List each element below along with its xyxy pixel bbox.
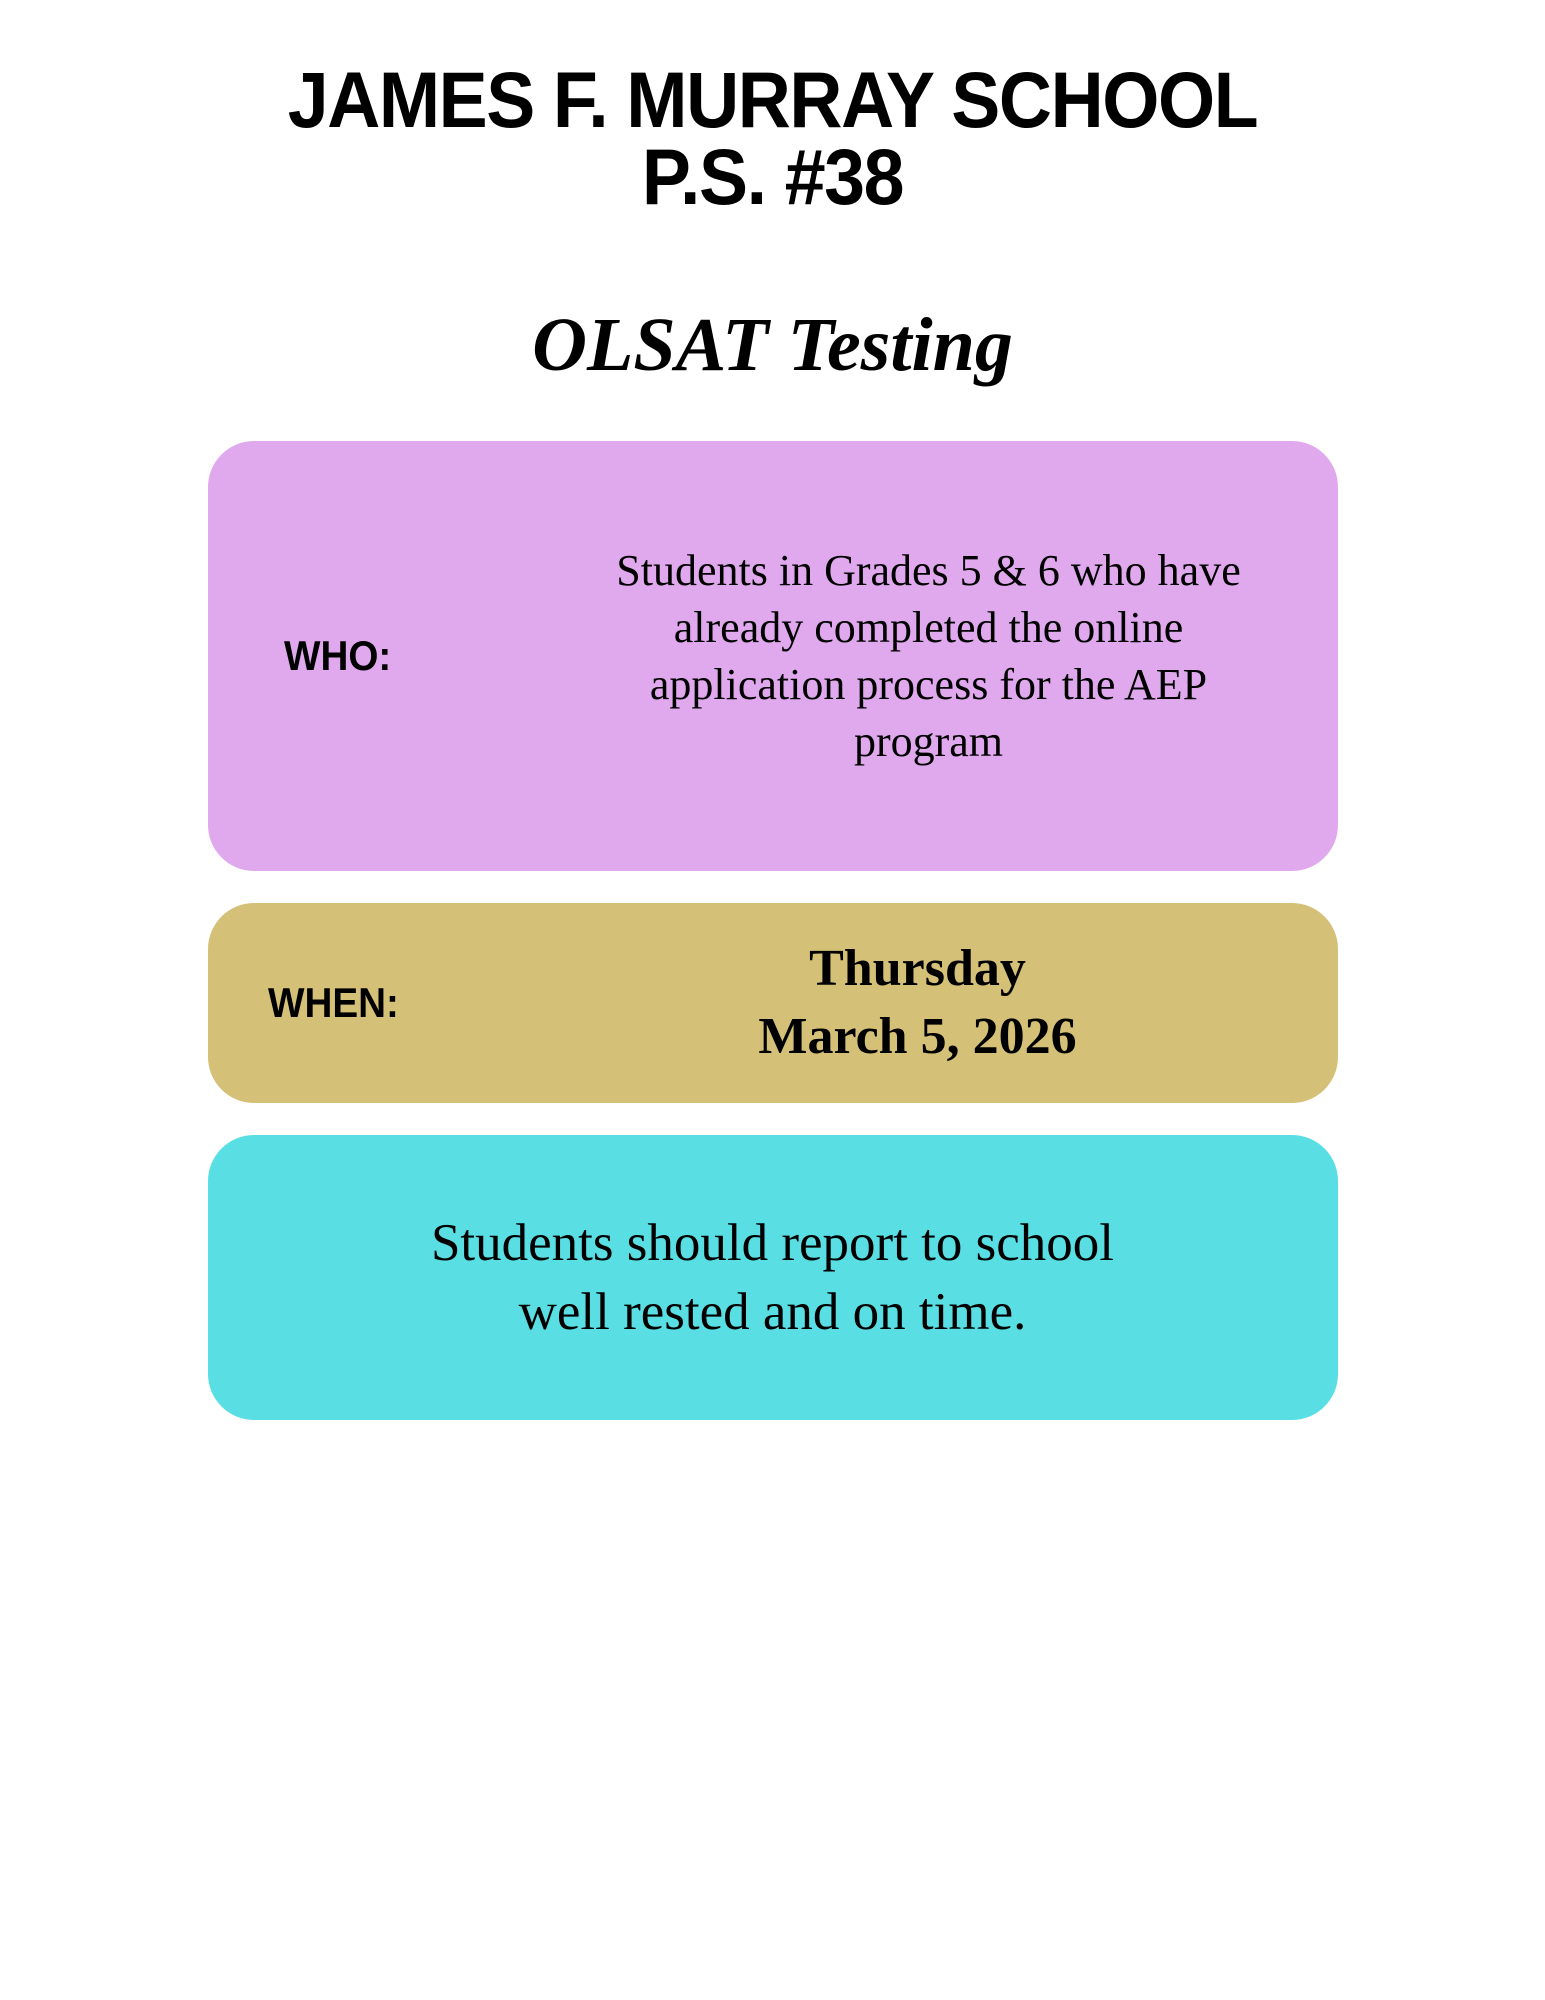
school-name-line1: JAMES F. MURRAY SCHOOL bbox=[288, 55, 1257, 144]
note-line-1: Students should report to school bbox=[256, 1209, 1290, 1278]
note-body-text: Students should report to school well re… bbox=[256, 1209, 1290, 1347]
note-line-2: well rested and on time. bbox=[256, 1278, 1290, 1347]
who-panel: WHO: Students in Grades 5 & 6 who have a… bbox=[208, 441, 1338, 871]
when-label: WHEN: bbox=[268, 979, 544, 1027]
when-panel: WHEN: Thursday March 5, 2026 bbox=[208, 903, 1338, 1103]
school-name-line2: P.S. #38 bbox=[54, 139, 1491, 216]
note-panel: Students should report to school well re… bbox=[208, 1135, 1338, 1420]
when-date: March 5, 2026 bbox=[556, 1003, 1280, 1072]
when-body-text: Thursday March 5, 2026 bbox=[556, 935, 1292, 1072]
event-subtitle: OLSAT Testing bbox=[0, 215, 1545, 383]
when-day: Thursday bbox=[556, 935, 1280, 1004]
info-panels: WHO: Students in Grades 5 & 6 who have a… bbox=[208, 383, 1338, 1420]
who-label: WHO: bbox=[284, 632, 560, 680]
who-body-text: Students in Grades 5 & 6 who have alread… bbox=[572, 542, 1292, 771]
page-title: JAMES F. MURRAY SCHOOL P.S. #38 bbox=[54, 0, 1491, 215]
flyer-page: JAMES F. MURRAY SCHOOL P.S. #38 OLSAT Te… bbox=[0, 0, 1545, 2000]
